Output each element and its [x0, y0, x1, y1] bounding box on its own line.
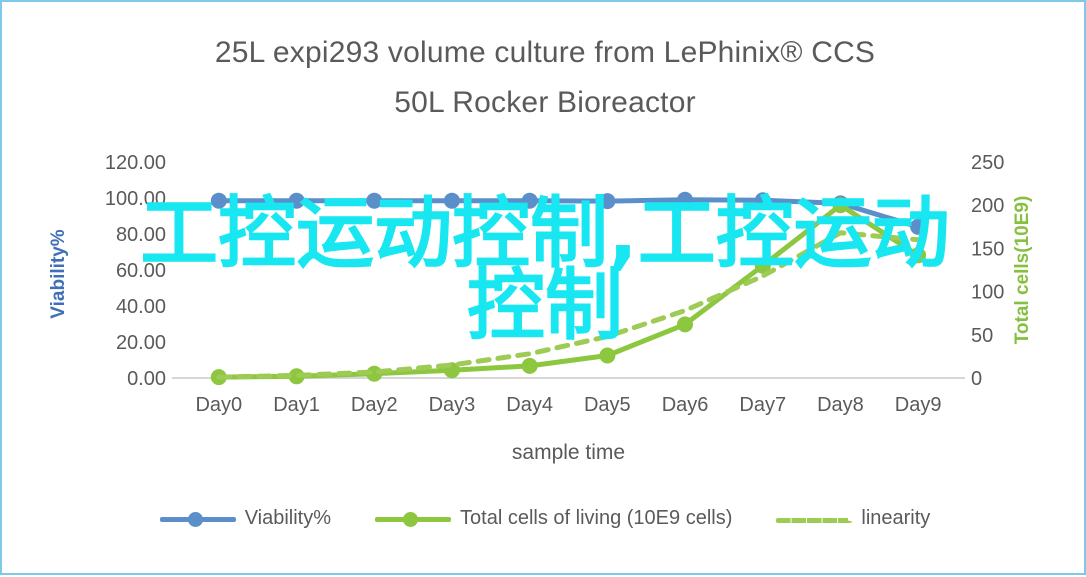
series-point-viability[interactable] [211, 193, 227, 209]
legend-label-total-cells: Total cells of living (10E9 cells) [460, 507, 732, 530]
legend-label-viability: Viability% [245, 507, 331, 530]
x-axis-category-label: Day8 [817, 394, 864, 416]
y-axis-left-title: Viability% [48, 229, 69, 319]
legend-item-total-cells[interactable]: Total cells of living (10E9 cells) [375, 507, 732, 530]
legend-item-linearity[interactable]: linearity [776, 507, 930, 530]
y-axis-left-tick: 120.00 [105, 152, 166, 174]
x-axis-category-label: Day1 [273, 394, 320, 416]
y-axis-right-tick: 200 [971, 195, 1004, 217]
y-axis-right-tick: 150 [971, 238, 1004, 260]
y-axis-right-tick: 100 [971, 282, 1004, 304]
series-point-viability[interactable] [910, 219, 926, 235]
series-line-linearity [219, 233, 918, 377]
series-point-viability[interactable] [677, 192, 693, 208]
legend-item-viability[interactable]: Viability% [160, 507, 331, 530]
y-axis-left-tick: 40.00 [116, 296, 166, 318]
x-axis-category-label: Day5 [584, 394, 631, 416]
y-axis-left-tick: 100.00 [105, 188, 166, 210]
series-point-viability[interactable] [366, 193, 382, 209]
y-axis-left-tick: 20.00 [116, 332, 166, 354]
x-axis-category-label: Day6 [662, 394, 709, 416]
series-point-total-cells-of-living-10e9-cells[interactable] [833, 197, 849, 213]
y-axis-left-tick: 80.00 [116, 224, 166, 246]
y-axis-left-tick: 0.00 [127, 368, 166, 390]
legend-swatch-linearity [776, 509, 852, 529]
series-point-viability[interactable] [444, 193, 460, 209]
legend-swatch-viability [160, 509, 236, 529]
series-point-viability[interactable] [522, 193, 538, 209]
chart-container: 25L expi293 volume culture from LePhinix… [0, 0, 1086, 575]
series-line-total-cells-of-living-10e9-cells [219, 205, 918, 377]
legend-swatch-total-cells [375, 509, 451, 529]
x-axis-title: sample time [512, 441, 625, 464]
series-point-viability[interactable] [755, 192, 771, 208]
y-axis-right-tick: 50 [971, 325, 993, 347]
y-axis-left-tick: 60.00 [116, 260, 166, 282]
x-axis-category-label: Day0 [195, 394, 242, 416]
series-point-viability[interactable] [289, 193, 305, 209]
x-axis-category-label: Day3 [429, 394, 476, 416]
series-point-total-cells-of-living-10e9-cells[interactable] [599, 348, 615, 364]
x-axis-category-label: Day7 [739, 394, 786, 416]
y-axis-right-title: Total cells(10E9) [1012, 196, 1033, 345]
series-line-viability [219, 200, 918, 227]
y-axis-right-tick: 250 [971, 152, 1004, 174]
series-point-viability[interactable] [599, 193, 615, 209]
series-point-total-cells-of-living-10e9-cells[interactable] [522, 358, 538, 374]
x-axis-category-label: Day2 [351, 394, 398, 416]
y-axis-right-tick: 0 [971, 368, 982, 390]
legend-label-linearity: linearity [861, 507, 930, 530]
chart-legend: Viability% Total cells of living (10E9 c… [2, 507, 1086, 530]
series-point-total-cells-of-living-10e9-cells[interactable] [677, 316, 693, 332]
x-axis-category-label: Day4 [506, 394, 553, 416]
x-axis-category-label: Day9 [895, 394, 942, 416]
plot-area: 0.0020.0040.0060.0080.00100.00120.000501… [2, 2, 1086, 577]
series-point-total-cells-of-living-10e9-cells[interactable] [910, 247, 926, 263]
